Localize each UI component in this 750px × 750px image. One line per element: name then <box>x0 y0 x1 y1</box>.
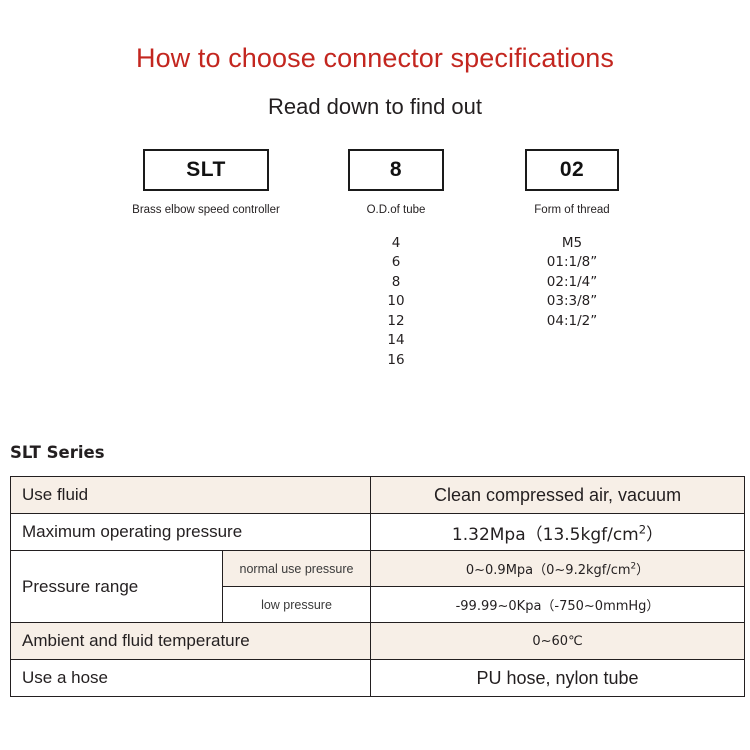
option-item: 16 <box>348 351 444 371</box>
spec-sublabel-normal-use-pressure: normal use pressure <box>223 551 371 587</box>
table-row: Maximum operating pressure 1.32Mpa（13.5k… <box>11 514 745 551</box>
code-column-thread-form: 02 Form of thread M5 01:1/8” 02:1/4” 03:… <box>525 149 619 332</box>
value-tail: ） <box>636 563 649 578</box>
spec-label-pressure-range: Pressure range <box>11 551 223 623</box>
code-caption-tube-od: O.D.of tube <box>348 204 444 216</box>
code-value-tube-od: 8 <box>390 158 402 182</box>
option-item: 04:1/2” <box>525 312 619 332</box>
option-item: 02:1/4” <box>525 273 619 293</box>
option-item: 01:1/8” <box>525 253 619 273</box>
option-item: 8 <box>348 273 444 293</box>
table-row: Use a hose PU hose, nylon tube <box>11 660 745 697</box>
option-item: 03:3/8” <box>525 292 619 312</box>
option-item: 4 <box>348 234 444 254</box>
page-header: How to choose connector specifications R… <box>0 0 750 119</box>
spec-series-title: SLT Series <box>10 443 105 462</box>
option-item: 12 <box>348 312 444 332</box>
page-subtitle: Read down to find out <box>0 74 750 119</box>
specification-table: Use fluid Clean compressed air, vacuum M… <box>10 476 745 697</box>
spec-label-use-fluid: Use fluid <box>11 477 371 514</box>
code-box-tube-od: 8 <box>348 149 444 191</box>
value-superscript: 2 <box>639 522 646 536</box>
code-caption-thread-form: Form of thread <box>525 204 619 216</box>
spec-label-use-a-hose: Use a hose <box>11 660 371 697</box>
spec-value-use-fluid: Clean compressed air, vacuum <box>371 477 745 514</box>
spec-value-use-a-hose: PU hose, nylon tube <box>371 660 745 697</box>
option-item: M5 <box>525 234 619 254</box>
spec-value-low-pressure: -99.99~0Kpa（-750~0mmHg） <box>371 587 745 623</box>
option-list-tube-od: 4 6 8 10 12 14 16 <box>348 234 444 371</box>
spec-label-max-operating-pressure: Maximum operating pressure <box>11 514 371 551</box>
code-breakdown: SLT Brass elbow speed controller 8 O.D.o… <box>0 149 750 404</box>
code-value-series: SLT <box>186 158 226 182</box>
page-title: How to choose connector specifications <box>0 44 750 74</box>
code-value-thread-form: 02 <box>560 158 584 182</box>
table-row: Use fluid Clean compressed air, vacuum <box>11 477 745 514</box>
code-column-series: SLT Brass elbow speed controller <box>143 149 269 216</box>
option-item: 10 <box>348 292 444 312</box>
spec-value-normal-use-pressure: 0~0.9Mpa（0~9.2kgf/cm2） <box>371 551 745 587</box>
value-text: 1.32Mpa（13.5kgf/cm <box>452 525 639 545</box>
value-tail: ） <box>646 525 663 545</box>
option-item: 14 <box>348 331 444 351</box>
option-item: 6 <box>348 253 444 273</box>
code-caption-series: Brass elbow speed controller <box>105 204 307 216</box>
code-box-series: SLT <box>143 149 269 191</box>
table-row: Pressure range normal use pressure 0~0.9… <box>11 551 745 587</box>
spec-sublabel-low-pressure: low pressure <box>223 587 371 623</box>
spec-label-ambient-fluid-temperature: Ambient and fluid temperature <box>11 623 371 660</box>
table-row: Ambient and fluid temperature 0~60℃ <box>11 623 745 660</box>
code-column-tube-od: 8 O.D.of tube 4 6 8 10 12 14 16 <box>348 149 444 371</box>
code-box-thread-form: 02 <box>525 149 619 191</box>
spec-value-ambient-fluid-temperature: 0~60℃ <box>371 623 745 660</box>
spec-value-max-operating-pressure: 1.32Mpa（13.5kgf/cm2） <box>371 514 745 551</box>
option-list-thread-form: M5 01:1/8” 02:1/4” 03:3/8” 04:1/2” <box>525 234 619 332</box>
value-text: 0~0.9Mpa（0~9.2kgf/cm <box>466 563 631 578</box>
